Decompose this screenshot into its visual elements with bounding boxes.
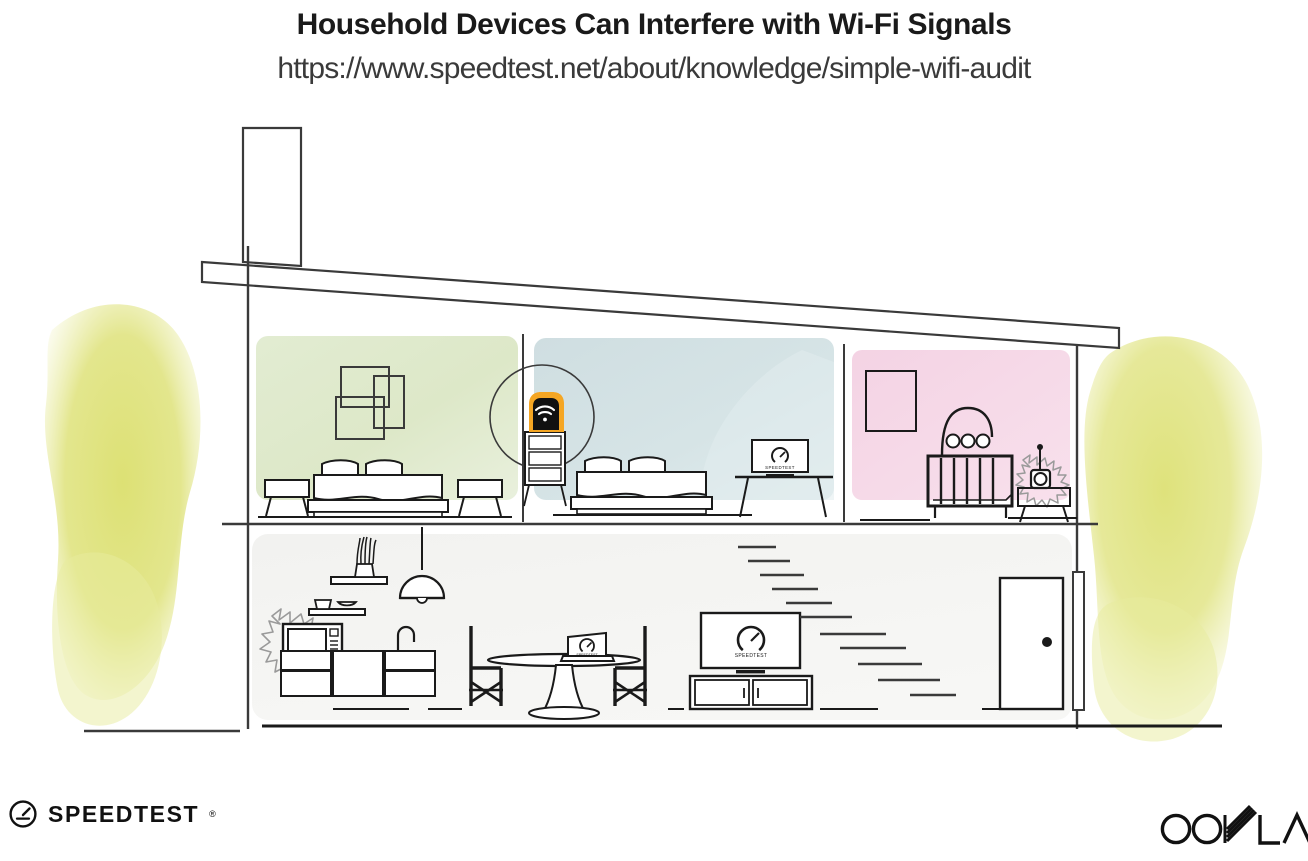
speedometer-gauge-icon xyxy=(8,799,38,829)
monitor-brand-label: SPEEDTEST xyxy=(765,465,795,470)
roof-slanted-band xyxy=(202,262,1119,348)
television: SPEEDTEST xyxy=(701,613,800,673)
foliage-left xyxy=(45,304,201,725)
bed-center xyxy=(571,457,712,514)
upstairs-bedroom-center-wall xyxy=(534,338,834,500)
nightstand-right xyxy=(458,480,502,516)
computer-monitor: SPEEDTEST xyxy=(752,440,808,477)
infographic-canvas: Household Devices Can Interfere with Wi-… xyxy=(0,0,1308,861)
ookla-wordmark xyxy=(1154,803,1308,847)
tv-brand-label: SPEEDTEST xyxy=(735,653,767,659)
upstairs-nursery-right-wall xyxy=(852,350,1070,500)
tv-speedtest-gauge-icon xyxy=(738,627,764,650)
wall-frame-nursery xyxy=(866,371,916,431)
house-cutaway-illustration: SPEEDTEST xyxy=(0,0,1308,780)
svg-text:SPEEDTEST: SPEEDTEST xyxy=(576,653,598,657)
dining-table xyxy=(488,654,640,719)
microwave-interference-burst xyxy=(260,609,333,679)
window-panel xyxy=(1073,572,1084,710)
footer-logo-row: SPEEDTEST ® xyxy=(0,799,1308,839)
speedtest-gauge-icon xyxy=(772,448,788,462)
speedtest-logo[interactable]: SPEEDTEST ® xyxy=(8,799,216,829)
desk xyxy=(735,477,833,517)
foliage-right xyxy=(1084,336,1262,741)
ookla-k-rays-icon xyxy=(1225,806,1256,843)
wall-shelf-lower xyxy=(309,600,365,615)
wifi-router xyxy=(529,392,564,432)
baby-monitor xyxy=(1031,444,1050,488)
speedtest-registered-mark: ® xyxy=(209,809,216,819)
ground-floor-wall xyxy=(252,534,1072,720)
chair-left xyxy=(469,626,503,706)
utensil-holder xyxy=(355,537,376,577)
source-url: https://www.speedtest.net/about/knowledg… xyxy=(0,52,1308,86)
wall-frame-square-bottom xyxy=(336,397,384,439)
chimney xyxy=(243,128,301,266)
kitchen-sink-faucet xyxy=(398,627,414,651)
pendant-lamp xyxy=(400,527,444,603)
dresser xyxy=(524,432,566,506)
kitchen-cabinets xyxy=(281,651,435,696)
wall-frame-tall xyxy=(374,376,404,428)
wifi-arcs-icon xyxy=(536,406,554,414)
ookla-logo[interactable] xyxy=(1154,803,1308,852)
router-highlight-circle xyxy=(490,365,594,469)
wall-frame-square-top xyxy=(341,367,389,407)
microwave xyxy=(283,624,342,658)
bed-left xyxy=(308,460,448,517)
staircase xyxy=(738,547,956,695)
laptop: SPEEDTEST xyxy=(561,633,614,661)
upstairs-bedroom-left-wall xyxy=(256,336,518,500)
speedtest-wordmark: SPEEDTEST xyxy=(48,801,199,828)
chair-right xyxy=(613,626,647,706)
wall-shelf-upper xyxy=(331,577,387,584)
nightstand-nursery xyxy=(1018,488,1070,522)
front-door xyxy=(1000,578,1063,709)
nightstand-left xyxy=(265,480,309,516)
door-knob xyxy=(1042,637,1052,647)
crib-mobile xyxy=(942,408,992,455)
page-title: Household Devices Can Interfere with Wi-… xyxy=(0,8,1308,42)
laptop-speedtest-gauge-icon xyxy=(580,639,594,651)
crib xyxy=(928,456,1012,518)
media-console xyxy=(690,676,812,709)
baby-monitor-interference-burst xyxy=(1016,455,1069,507)
